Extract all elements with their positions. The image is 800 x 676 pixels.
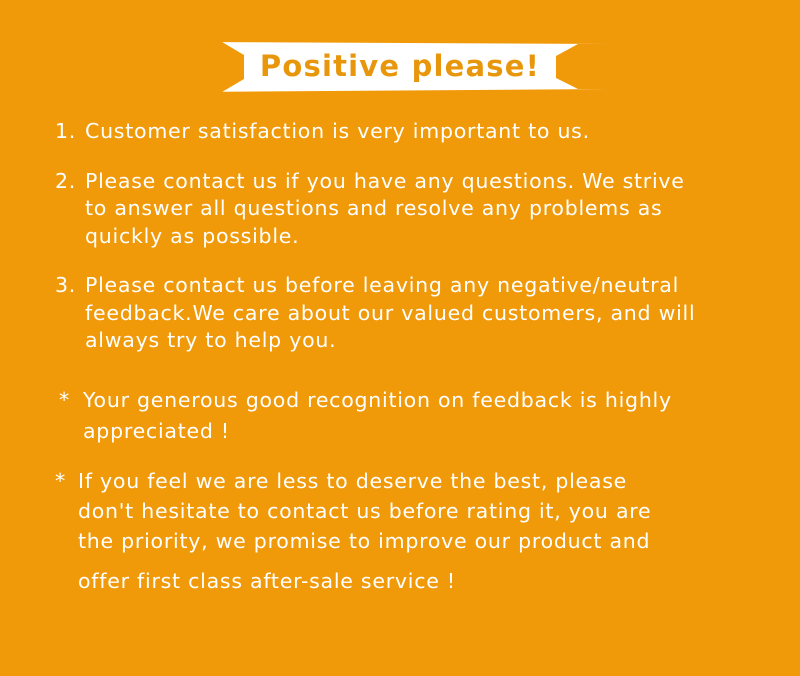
text-line: Please contact us before leaving any neg… — [85, 272, 792, 300]
text-line: feedback.We care about our valued custom… — [85, 300, 792, 328]
list-item-marker: 1. — [55, 118, 76, 146]
list-item-marker: 3. — [55, 272, 76, 300]
text-line: to answer all questions and resolve any … — [85, 195, 792, 223]
banner: Positive please! — [192, 42, 608, 92]
asterisk-icon: * — [55, 466, 66, 496]
list-item-text: Please contact us if you have any questi… — [85, 168, 792, 251]
notice-body: 1. Customer satisfaction is very importa… — [0, 118, 800, 596]
text-line: don't hesitate to contact us before rati… — [78, 496, 792, 526]
list-item: 3. Please contact us before leaving any … — [0, 272, 800, 355]
positive-feedback-notice: { "theme": { "background": "#f09a0a", "r… — [0, 0, 800, 676]
text-line: Your generous good recognition on feedba… — [83, 385, 792, 416]
list-item-marker: 2. — [55, 168, 76, 196]
starred-item: * If you feel we are less to deserve the… — [0, 466, 800, 596]
starred-item: * Your generous good recognition on feed… — [0, 385, 800, 447]
text-line: Please contact us if you have any questi… — [85, 168, 792, 196]
text-line: appreciated ! — [83, 416, 792, 447]
list-item-text: Please contact us before leaving any neg… — [85, 272, 792, 355]
text-line: offer first class after-sale service ! — [78, 566, 792, 596]
starred-item-text: Your generous good recognition on feedba… — [83, 385, 792, 447]
list-item: 2. Please contact us if you have any que… — [0, 168, 800, 251]
text-line: If you feel we are less to deserve the b… — [78, 466, 792, 496]
list-item: 1. Customer satisfaction is very importa… — [0, 118, 800, 146]
asterisk-icon: * — [59, 385, 70, 416]
list-item-text: Customer satisfaction is very important … — [85, 118, 792, 146]
starred-item-text: If you feel we are less to deserve the b… — [78, 466, 792, 596]
banner-title: Positive please! — [192, 42, 608, 92]
text-line: always try to help you. — [85, 327, 792, 355]
text-line: quickly as possible. — [85, 223, 792, 251]
text-line: Customer satisfaction is very important … — [85, 118, 792, 146]
text-line: the priority, we promise to improve our … — [78, 526, 792, 556]
